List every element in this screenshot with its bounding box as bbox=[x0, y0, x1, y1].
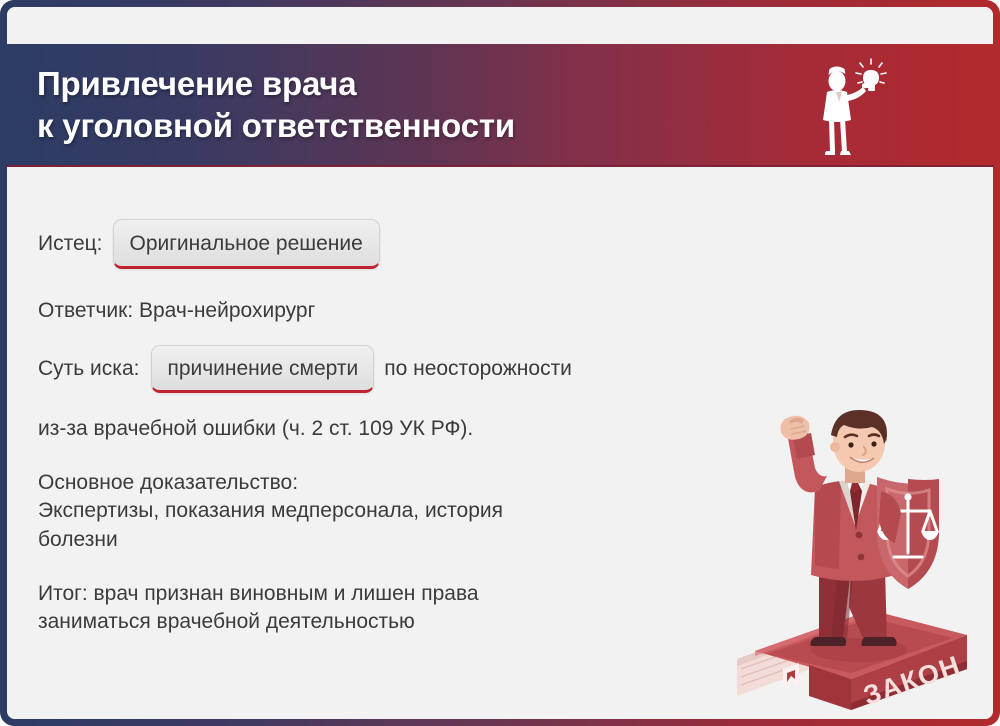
lawyer-head bbox=[830, 410, 887, 483]
plaintiff-row: Истец: Оригинальное решение bbox=[38, 219, 783, 269]
spacer bbox=[38, 443, 783, 469]
plaintiff-label: Истец: bbox=[38, 230, 103, 258]
top-strip bbox=[7, 7, 993, 44]
claim-suffix: по неосторожности bbox=[384, 355, 572, 383]
spacer bbox=[38, 393, 783, 415]
infographic-card: Привлечение врача к уголовной ответствен… bbox=[0, 0, 1000, 726]
page-title: Привлечение врача к уголовной ответствен… bbox=[37, 62, 515, 146]
content-area: Истец: Оригинальное решение Ответчик: Вр… bbox=[7, 169, 993, 719]
lawyer-with-shield-on-law-book-illustration: ЗАКОН bbox=[719, 407, 987, 719]
case-details: Истец: Оригинальное решение Ответчик: Вр… bbox=[38, 219, 783, 636]
claim-label: Суть иска: bbox=[38, 355, 139, 383]
plaintiff-value-pill[interactable]: Оригинальное решение bbox=[113, 219, 380, 269]
spacer bbox=[38, 269, 783, 297]
spacer bbox=[38, 325, 783, 345]
card-inner-panel: Привлечение врача к уголовной ответствен… bbox=[7, 7, 993, 719]
evidence-block: Основное доказательство: Экспертизы, пок… bbox=[38, 469, 783, 553]
lawyer-raised-arm bbox=[781, 416, 828, 493]
law-book: ЗАКОН bbox=[737, 610, 967, 711]
claim-continuation: из-за врачебной ошибки (ч. 2 ст. 109 УК … bbox=[38, 415, 783, 443]
outcome-block: Итог: врач признан виновным и лишен прав… bbox=[38, 580, 783, 636]
defendant-row: Ответчик: Врач-нейрохирург bbox=[38, 297, 783, 325]
claim-row: Суть иска: причинение смерти по неосторо… bbox=[38, 345, 783, 393]
spacer bbox=[38, 554, 783, 580]
man-with-lightbulb-silhouette-icon bbox=[805, 56, 905, 161]
claim-value-pill[interactable]: причинение смерти bbox=[151, 345, 374, 393]
header-band: Привлечение врача к уголовной ответствен… bbox=[7, 44, 993, 167]
